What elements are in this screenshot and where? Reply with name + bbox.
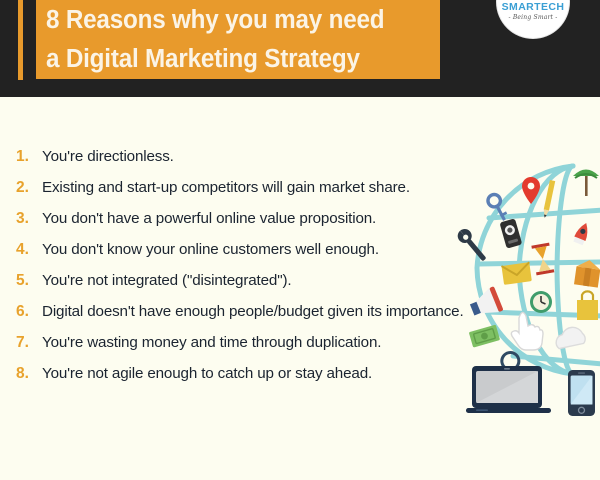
- list-item-text: Digital doesn't have enough people/budge…: [42, 297, 468, 327]
- list-item-number: 8.: [16, 359, 42, 389]
- rocket-icon: [572, 221, 591, 246]
- list-item-text: You're directionless.: [42, 142, 468, 172]
- map-pin-icon: [522, 177, 540, 204]
- pointer-hand-icon: [511, 312, 543, 350]
- title-block: 8 Reasons why you may need a Digital Mar…: [36, 0, 440, 79]
- list-item: 4. You don't know your online customers …: [16, 235, 468, 265]
- list-item-number: 3.: [16, 204, 42, 234]
- tree-icon: [573, 170, 599, 197]
- list-item: 3. You don't have a powerful online valu…: [16, 204, 468, 234]
- brand-logo-name: SMARTECH: [497, 2, 569, 13]
- smartphone-icon: [568, 370, 595, 416]
- box-icon: [574, 259, 600, 288]
- list-item-number: 2.: [16, 173, 42, 203]
- list-item: 2. Existing and start-up competitors wil…: [16, 173, 468, 203]
- brand-logo-badge[interactable]: SMARTECH - Being Smart -: [497, 0, 569, 38]
- list-item: 6. Digital doesn't have enough people/bu…: [16, 297, 468, 327]
- list-item-number: 1.: [16, 142, 42, 172]
- list-item: 5. You're not integrated ("disintegrated…: [16, 266, 468, 296]
- list-item: 7. You're wasting money and time through…: [16, 328, 468, 358]
- envelope-icon: [501, 262, 531, 285]
- cloud-icon: [554, 325, 587, 349]
- key-icon: [486, 192, 510, 223]
- list-item-text: You don't know your online customers wel…: [42, 235, 468, 265]
- laptop-icon: [466, 366, 551, 416]
- hourglass-icon: [531, 243, 554, 276]
- pencil-icon: [542, 180, 555, 218]
- reasons-list: 1. You're directionless. 2. Existing and…: [16, 142, 468, 390]
- brand-logo-tagline: - Being Smart -: [497, 13, 569, 22]
- camera-icon: [499, 218, 522, 248]
- page-title-line-2: a Digital Marketing Strategy: [46, 40, 420, 79]
- list-item-number: 7.: [16, 328, 42, 358]
- header-band: 8 Reasons why you may need a Digital Mar…: [0, 0, 600, 97]
- list-item-number: 4.: [16, 235, 42, 265]
- page-title-line-1: 8 Reasons why you may need: [46, 1, 420, 40]
- list-item-number: 6.: [16, 297, 42, 327]
- list-item-text: You're not agile enough to catch up or s…: [42, 359, 468, 389]
- clock-icon: [530, 291, 552, 313]
- list-item-text: Existing and start-up competitors will g…: [42, 173, 468, 203]
- list-item: 8. You're not agile enough to catch up o…: [16, 359, 468, 389]
- list-item-text: You don't have a powerful online value p…: [42, 204, 468, 234]
- list-item-text: You're not integrated ("disintegrated").: [42, 266, 468, 296]
- list-item-number: 5.: [16, 266, 42, 296]
- shopping-bag-icon: [577, 291, 598, 320]
- list-item-text: You're wasting money and time through du…: [42, 328, 468, 358]
- infographic-canvas: 8 Reasons why you may need a Digital Mar…: [0, 0, 600, 480]
- globe-grid-icon: [477, 166, 600, 374]
- money-icon: [469, 325, 500, 348]
- brand-logo-inner: SMARTECH - Being Smart -: [497, 2, 569, 22]
- megaphone-icon: [467, 286, 504, 321]
- list-item: 1. You're directionless.: [16, 142, 468, 172]
- accent-bar: [18, 0, 23, 80]
